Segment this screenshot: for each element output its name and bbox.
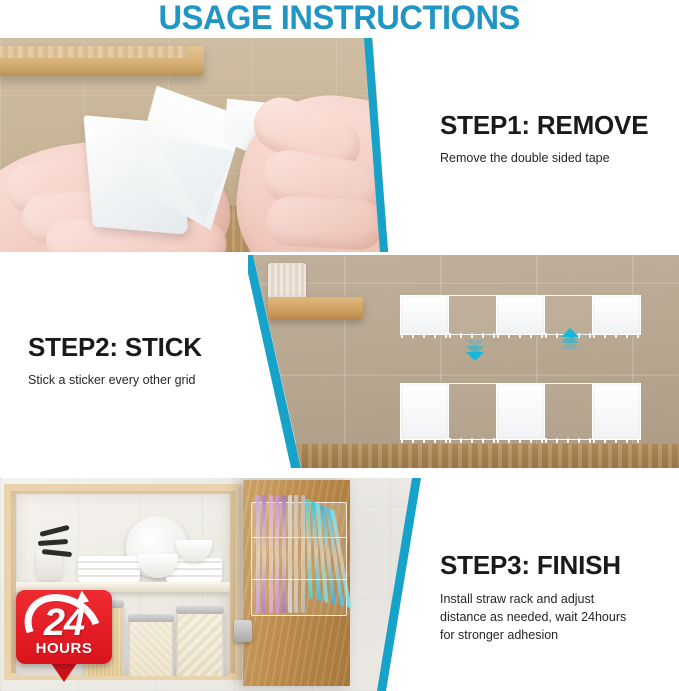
step2-text-block: STEP2: STICK Stick a sticker every other…	[28, 332, 202, 389]
step1-text-block: STEP1: REMOVE Remove the double sided ta…	[440, 110, 648, 167]
badge-body: 24 HOURS	[16, 590, 112, 664]
step2-description: Stick a sticker every other grid	[28, 372, 202, 389]
step3-text-block: STEP3: FINISH Install straw rack and adj…	[440, 550, 665, 644]
step1-description: Remove the double sided tape	[440, 150, 648, 167]
step3-heading: STEP3: FINISH	[440, 550, 665, 581]
infographic-page: USAGE INSTRUCTIONS STEP1: REMOV	[0, 0, 679, 691]
wooden-shelf	[0, 46, 204, 76]
step2-accent-edge	[248, 255, 679, 468]
step3-description: Install straw rack and adjust distance a…	[440, 590, 665, 644]
24-hours-badge: 24 HOURS	[16, 590, 112, 682]
step1-heading: STEP1: REMOVE	[440, 110, 648, 141]
right-hand-finger	[265, 195, 385, 251]
step3-description-line: distance as needed, wait 24hours	[440, 608, 665, 626]
step1-photo-panel	[0, 38, 388, 252]
badge-number: 24	[16, 604, 112, 642]
step3-description-line: Install straw rack and adjust	[440, 590, 665, 608]
page-title: USAGE INSTRUCTIONS	[159, 0, 520, 38]
step1-photo	[0, 38, 388, 252]
step3-description-line: for stronger adhesion	[440, 626, 665, 644]
page-title-bar: USAGE INSTRUCTIONS	[0, 0, 679, 38]
shelf-edge	[0, 46, 188, 58]
badge-unit: HOURS	[16, 640, 112, 657]
step2-heading: STEP2: STICK	[28, 332, 202, 363]
